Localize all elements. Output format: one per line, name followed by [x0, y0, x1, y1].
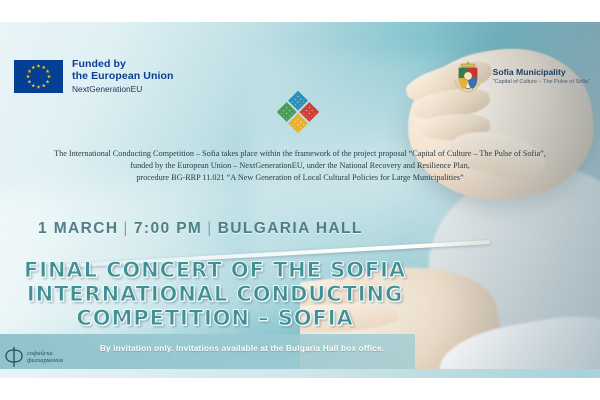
- eu-star: [27, 80, 31, 84]
- eu-star: [45, 69, 49, 73]
- event-dateline: 1 MARCH|7:00 PM|BULGARIA HALL: [38, 220, 363, 238]
- philharmonic-line-2: филхармония: [27, 357, 63, 364]
- sofia-municipality-logo: Sofia Municipality "Capital of Culture –…: [450, 58, 590, 94]
- sofia-philharmonic-logo: софийска филхармония: [4, 346, 63, 368]
- eu-star: [45, 80, 49, 84]
- eu-star: [36, 64, 40, 68]
- eu-star: [26, 74, 30, 78]
- eu-star: [47, 74, 51, 78]
- sofia-coat-of-arms-icon: [450, 58, 486, 94]
- philharmonic-line-1: софийска: [27, 350, 63, 357]
- municipality-name: Sofia Municipality: [493, 67, 590, 77]
- headline-line-1: FINAL CONCERT OF THE SOFIA: [0, 258, 430, 282]
- headline-line-3: COMPETITION – SOFIA: [0, 306, 430, 330]
- headline-line-2: INTERNATIONAL CONDUCTING: [0, 282, 430, 306]
- blurb-line-1: The International Conducting Competition…: [18, 148, 582, 160]
- event-date: 1 MARCH: [38, 220, 118, 237]
- sofia-municipality-text: Sofia Municipality "Capital of Culture –…: [493, 67, 590, 86]
- logo-row: Funded by the European Union NextGenerat…: [0, 22, 600, 88]
- eu-star: [36, 85, 40, 89]
- admission-note: By invitation only. Invitations availabl…: [97, 343, 387, 353]
- eu-line2: the European Union: [72, 70, 174, 82]
- blurb-line-3: procedure BG-RRP 11.021 “A New Generatio…: [18, 172, 582, 184]
- eu-flag-icon: [14, 60, 63, 93]
- blurb-line-2: funded by the European Union – NextGener…: [18, 160, 582, 172]
- municipality-slogan: "Capital of Culture – The Pulse of Sofia…: [493, 78, 590, 86]
- page-title: FINAL CONCERT OF THE SOFIA INTERNATIONAL…: [0, 258, 430, 330]
- eu-star: [31, 65, 35, 69]
- dateline-separator: |: [202, 220, 217, 237]
- dateline-separator: |: [118, 220, 133, 237]
- eu-funding-logo: Funded by the European Union NextGenerat…: [14, 58, 174, 95]
- philharmonic-monogram-icon: [4, 346, 24, 368]
- eu-line1: Funded by: [72, 58, 174, 70]
- eu-star: [42, 65, 46, 69]
- eu-star: [31, 83, 35, 87]
- funding-disclaimer: The International Conducting Competition…: [18, 148, 582, 185]
- eu-star: [42, 83, 46, 87]
- philharmonic-name: софийска филхармония: [27, 350, 63, 365]
- eu-star: [27, 69, 31, 73]
- event-venue: BULGARIA HALL: [218, 220, 363, 237]
- event-time: 7:00 PM: [134, 220, 202, 237]
- event-poster: Funded by the European Union NextGenerat…: [0, 22, 600, 378]
- bulgarian-embroidery-diamond-icon: [277, 91, 319, 133]
- eu-programme: NextGenerationEU: [72, 83, 174, 95]
- bottom-gradient-strip: [0, 369, 600, 378]
- eu-logo-text: Funded by the European Union NextGenerat…: [72, 58, 174, 95]
